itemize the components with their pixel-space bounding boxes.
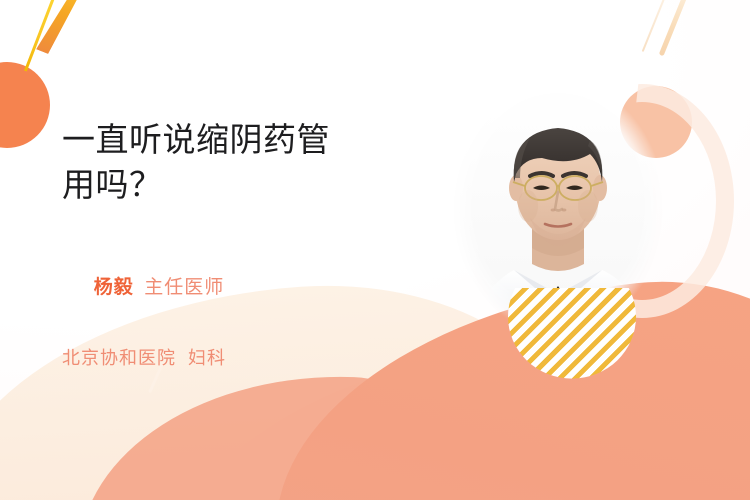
page-title: 一直听说缩阴药管 用吗？ bbox=[62, 118, 412, 207]
striped-disc-icon bbox=[507, 288, 637, 398]
doctor-name: 杨毅 bbox=[94, 277, 134, 298]
doctor-credentials: 杨毅 主任医师 北京协和医院 妇科 bbox=[62, 244, 226, 370]
doctor-name-row: 杨毅 主任医师 bbox=[62, 244, 226, 332]
doctor-title: 主任医师 bbox=[144, 277, 224, 298]
doctor-affiliation: 北京协和医院 妇科 bbox=[62, 344, 226, 370]
promo-card: 一直听说缩阴药管 用吗？ 杨毅 主任医师 北京协和医院 妇科 bbox=[0, 0, 750, 500]
doctor-name-spacer bbox=[134, 277, 145, 298]
portrait-cluster bbox=[432, 58, 750, 388]
